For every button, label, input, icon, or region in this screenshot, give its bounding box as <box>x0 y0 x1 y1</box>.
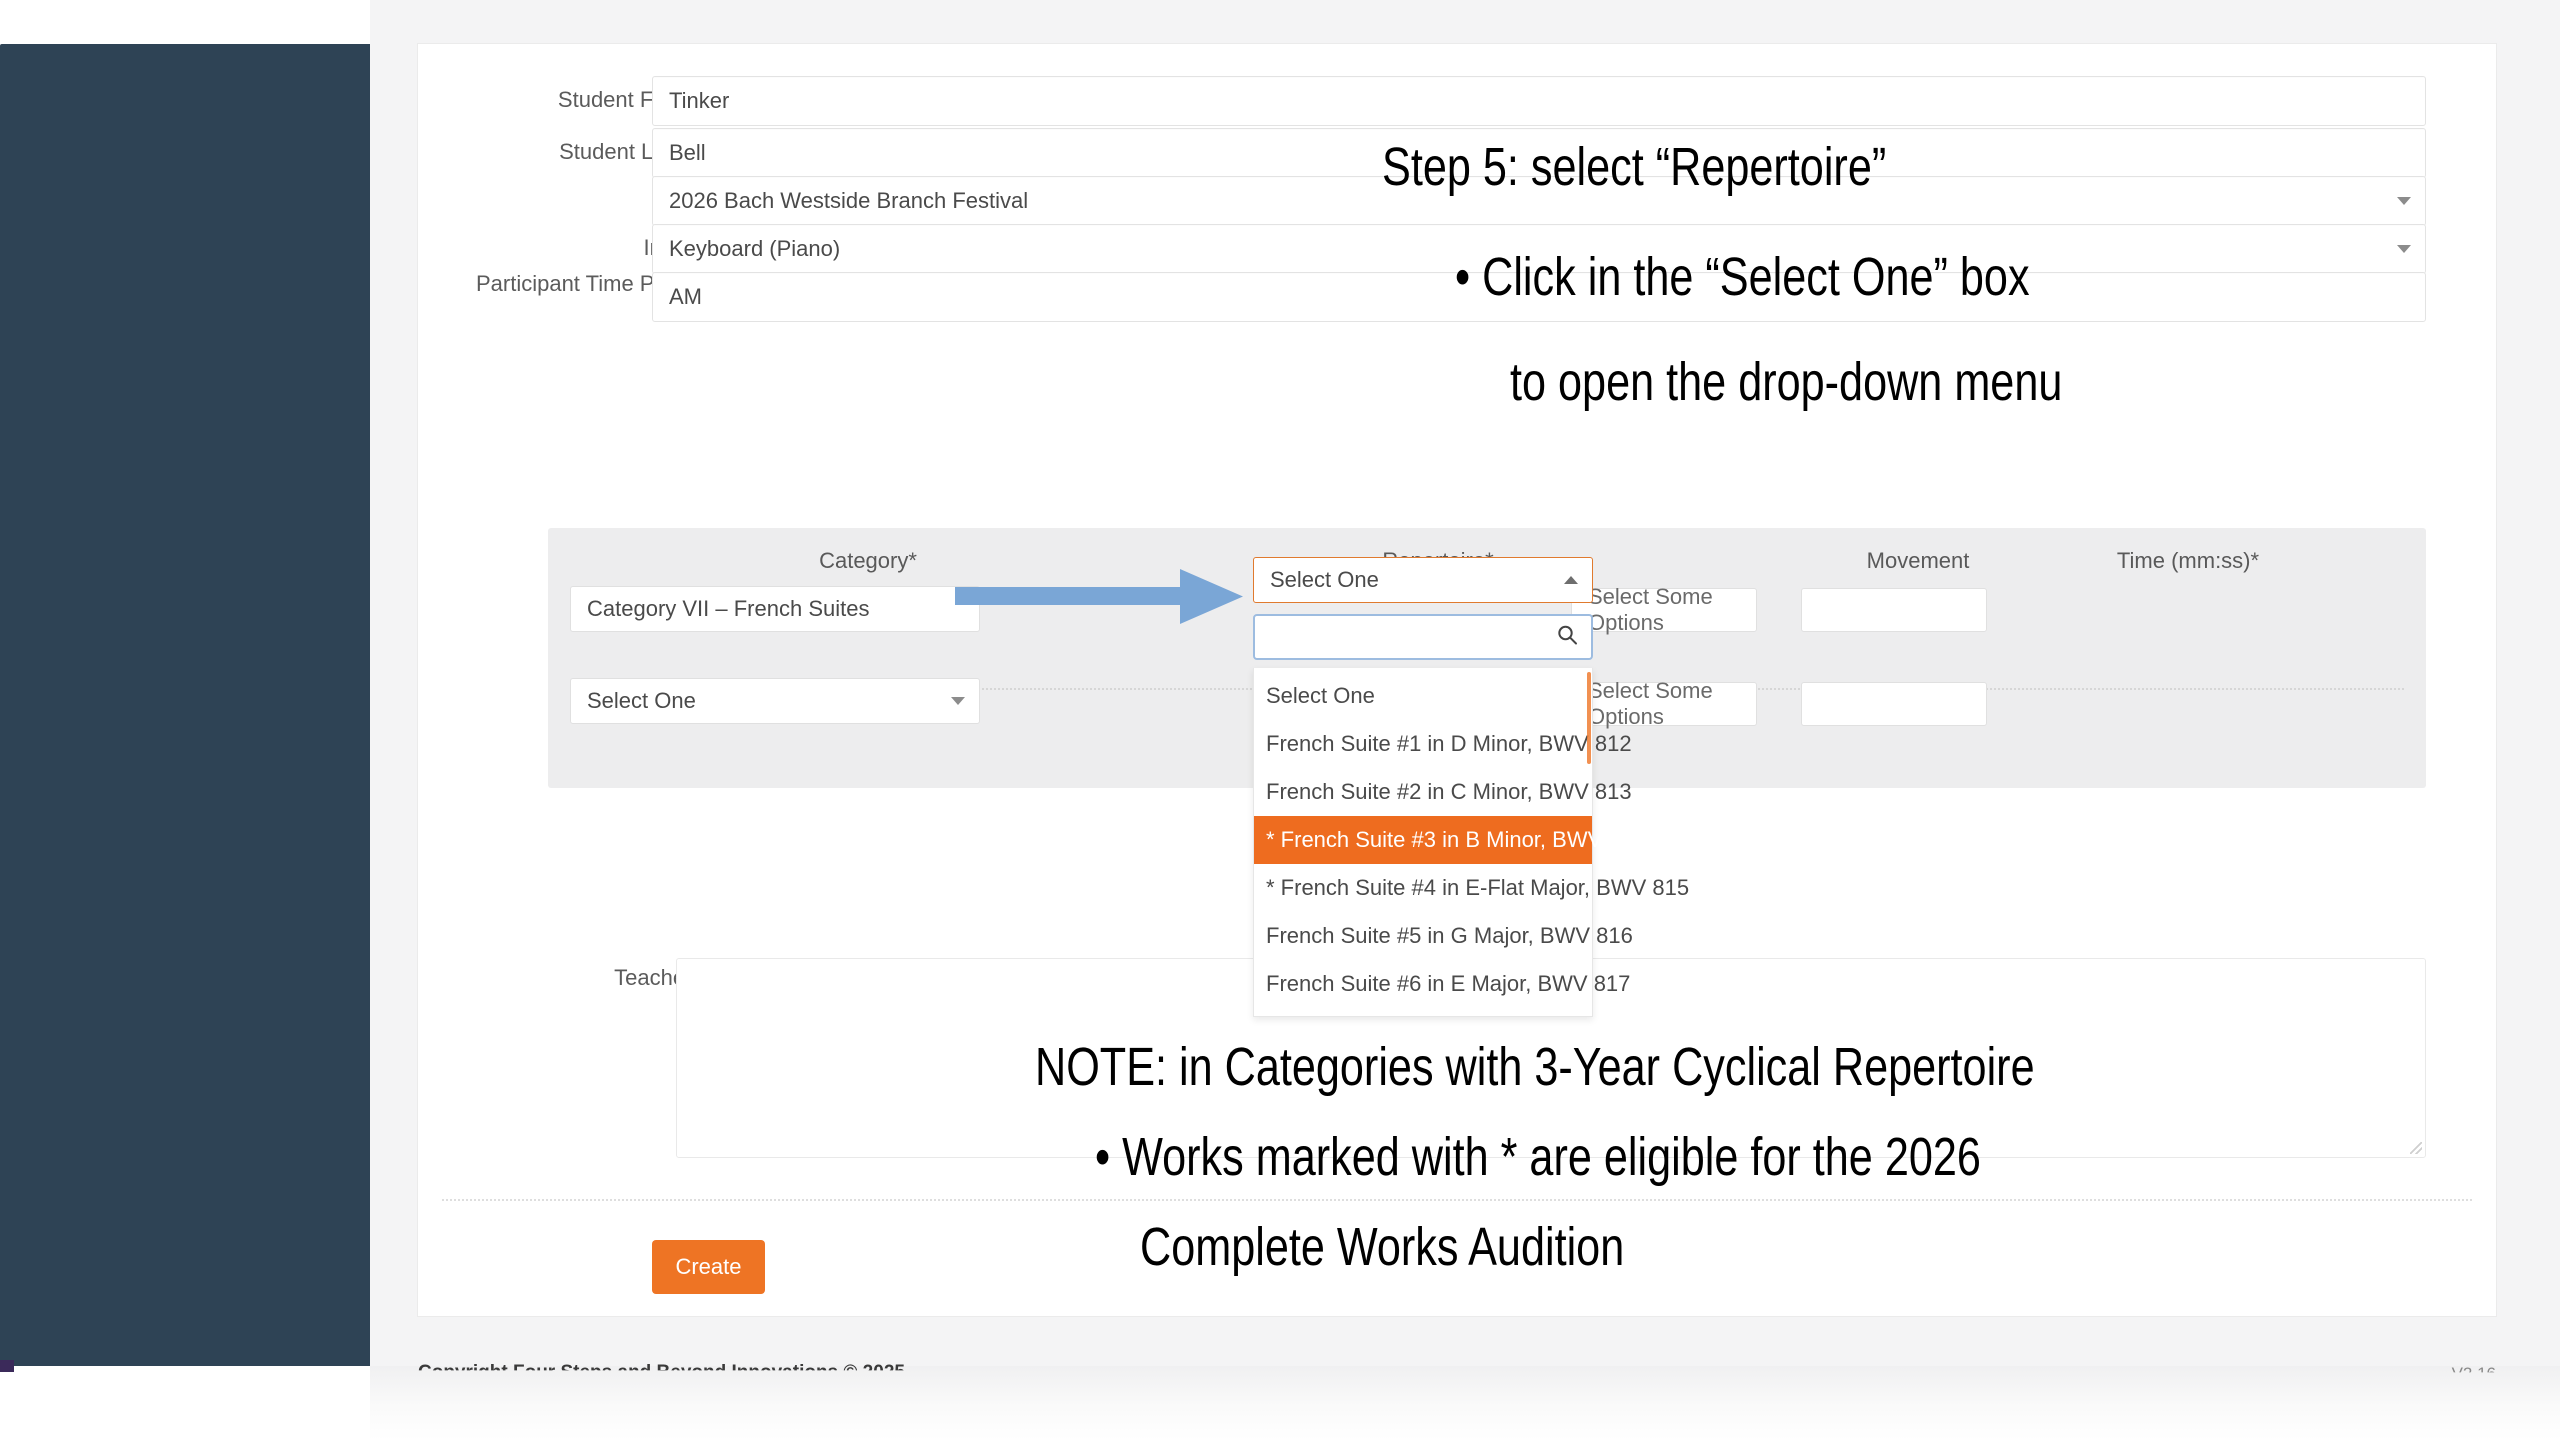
combobox-value: Select One <box>1270 567 1379 593</box>
footer-copyright: Copyright Four Steps and Beyond Innovati… <box>418 1362 905 1384</box>
resize-handle-icon[interactable] <box>2410 1142 2422 1154</box>
chevron-down-icon[interactable] <box>2397 197 2411 205</box>
annotation-step-title: Step 5: select “Repertoire” <box>1382 140 1886 195</box>
row2-select-category[interactable]: Select One <box>570 678 980 724</box>
annotation-bullet-1-line-1: • Click in the “Select One” box <box>1455 250 2030 305</box>
select-placeholder: Select One <box>587 688 696 714</box>
dropdown-option[interactable]: French Suite #2 in C Minor, BWV 813 <box>1254 768 1592 816</box>
dropdown-scrollbar[interactable] <box>1587 672 1591 764</box>
select-placeholder: Select Some Options <box>1588 678 1740 730</box>
search-input[interactable] <box>1269 625 1577 649</box>
row1-input-time[interactable] <box>1801 588 1987 632</box>
page-footer: Copyright Four Steps and Beyond Innovati… <box>370 1366 2560 1440</box>
dropdown-option[interactable]: French Suite #1 in D Minor, BWV 812 <box>1254 720 1592 768</box>
footer-version: V2.16 <box>2452 1364 2496 1384</box>
app-root: Student First Name* Tinker Student Last … <box>0 0 2560 1440</box>
pointer-arrow-icon <box>955 567 1245 627</box>
dropdown-option-selected[interactable]: * French Suite #3 in B Minor, BWV 814 <box>1254 816 1592 864</box>
repertoire-option-list[interactable]: Select One French Suite #1 in D Minor, B… <box>1253 668 1593 1017</box>
chevron-up-icon[interactable] <box>1564 576 1578 584</box>
input-value: AM <box>669 284 702 310</box>
row2-select-movement[interactable]: Select Some Options <box>1571 682 1757 726</box>
select-value: Category VII – French Suites <box>587 596 869 622</box>
input-student-first-name[interactable]: Tinker <box>652 76 2426 126</box>
annotation-bullet-2-line-2: Complete Works Audition <box>1140 1220 1624 1275</box>
annotation-bullet-1-line-2: to open the drop-down menu <box>1510 355 2062 410</box>
row2-input-time[interactable] <box>1801 682 1987 726</box>
annotation-bullet-2-line-1: • Works marked with * are eligible for t… <box>1095 1130 1981 1185</box>
dropdown-option[interactable]: French Suite #5 in G Major, BWV 816 <box>1254 912 1592 960</box>
dropdown-option[interactable]: * French Suite #4 in E-Flat Major, BWV 8… <box>1254 864 1592 912</box>
select-value: 2026 Bach Westside Branch Festival <box>669 188 1028 214</box>
repertoire-search-box[interactable] <box>1253 614 1593 660</box>
dropdown-option[interactable]: Select One <box>1254 672 1592 720</box>
dropdown-option[interactable]: French Suite #6 in E Major, BWV 817 <box>1254 960 1592 1008</box>
search-icon <box>1555 623 1579 652</box>
row1-select-category[interactable]: Category VII – French Suites <box>570 586 980 632</box>
navigation-sidebar[interactable] <box>0 44 370 1366</box>
chevron-down-icon[interactable] <box>2397 245 2411 253</box>
chevron-down-icon[interactable] <box>951 697 965 705</box>
column-header-time: Time (mm:ss)* <box>1988 548 2388 574</box>
select-placeholder: Select Some Options <box>1588 584 1740 636</box>
row1-select-movement[interactable]: Select Some Options <box>1571 588 1757 632</box>
input-value: Bell <box>669 140 706 166</box>
sidebar-corner-accent <box>0 1360 14 1372</box>
annotation-note-title: NOTE: in Categories with 3-Year Cyclical… <box>1035 1040 2035 1095</box>
repertoire-combobox-toggle[interactable]: Select One <box>1253 557 1593 603</box>
input-value: Tinker <box>669 88 729 114</box>
create-button[interactable]: Create <box>652 1240 765 1294</box>
select-value: Keyboard (Piano) <box>669 236 840 262</box>
form-divider <box>442 1199 2472 1201</box>
